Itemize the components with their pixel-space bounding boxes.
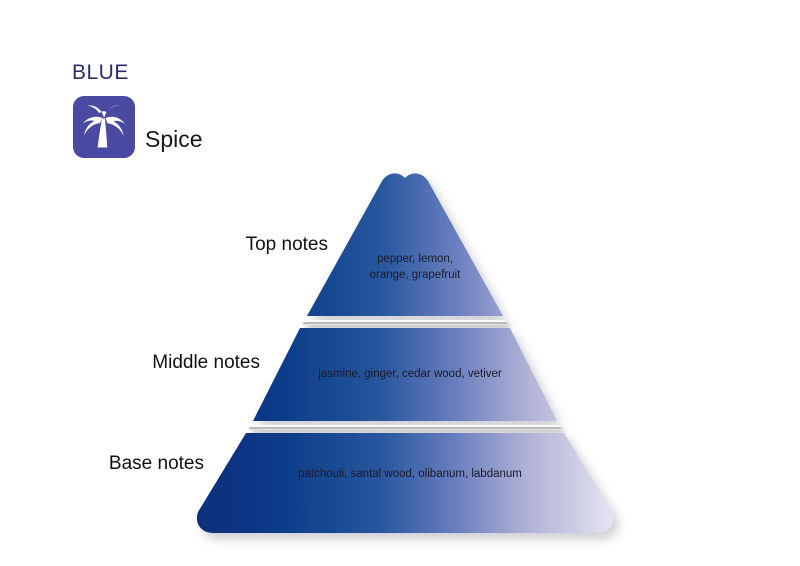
pyramid-divider-1 — [302, 320, 508, 325]
pyramid-label-top-notes: Top notes — [246, 235, 328, 254]
pyramid-graphic — [0, 0, 800, 566]
pyramid-label-base-notes: Base notes — [109, 454, 204, 473]
pyramid-level-base-notes — [197, 433, 613, 533]
pyramid-label-middle-notes: Middle notes — [152, 353, 260, 372]
pyramid-level-middle-notes — [253, 328, 557, 421]
pyramid-divider-2 — [248, 425, 562, 430]
pyramid-level-top-notes — [307, 173, 503, 316]
